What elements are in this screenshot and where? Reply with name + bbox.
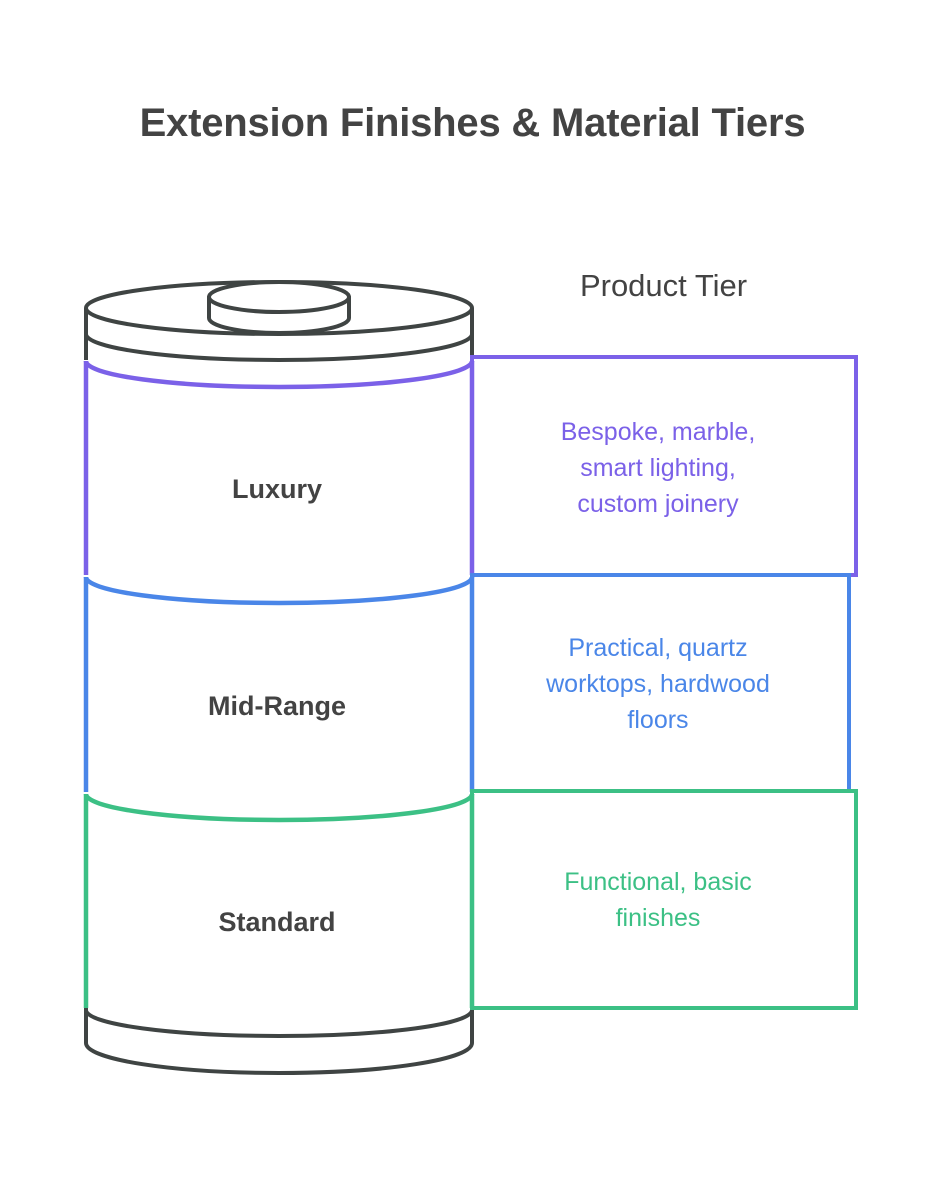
tier-label-mid-range: Mid-Range (83, 691, 471, 722)
cylinder-top-cap (86, 282, 472, 334)
description-text-standard: Functional, basic finishes (478, 864, 838, 936)
cylinder-segment-standard[interactable] (86, 794, 472, 1008)
cylinder-segment-luxury[interactable] (86, 361, 472, 575)
description-line: Practical, quartz (478, 630, 838, 666)
description-text-mid-range: Practical, quartz worktops, hardwood flo… (478, 630, 838, 738)
description-line: worktops, hardwood (478, 666, 838, 702)
description-line: smart lighting, (478, 450, 838, 486)
diagram-canvas: Extension Finishes & Material Tiers Prod… (0, 0, 945, 1204)
tier-label-standard: Standard (83, 907, 471, 938)
cylinder-tier-graphic (0, 0, 945, 1204)
description-text-luxury: Bespoke, marble, smart lighting, custom … (478, 414, 838, 522)
cylinder-base (86, 1008, 472, 1073)
description-line: Bespoke, marble, (478, 414, 838, 450)
description-line: floors (478, 702, 838, 738)
cylinder-segment-mid-range[interactable] (86, 577, 472, 792)
description-line: custom joinery (478, 486, 838, 522)
tier-label-luxury: Luxury (83, 474, 471, 505)
description-line: finishes (478, 900, 838, 936)
description-line: Functional, basic (478, 864, 838, 900)
